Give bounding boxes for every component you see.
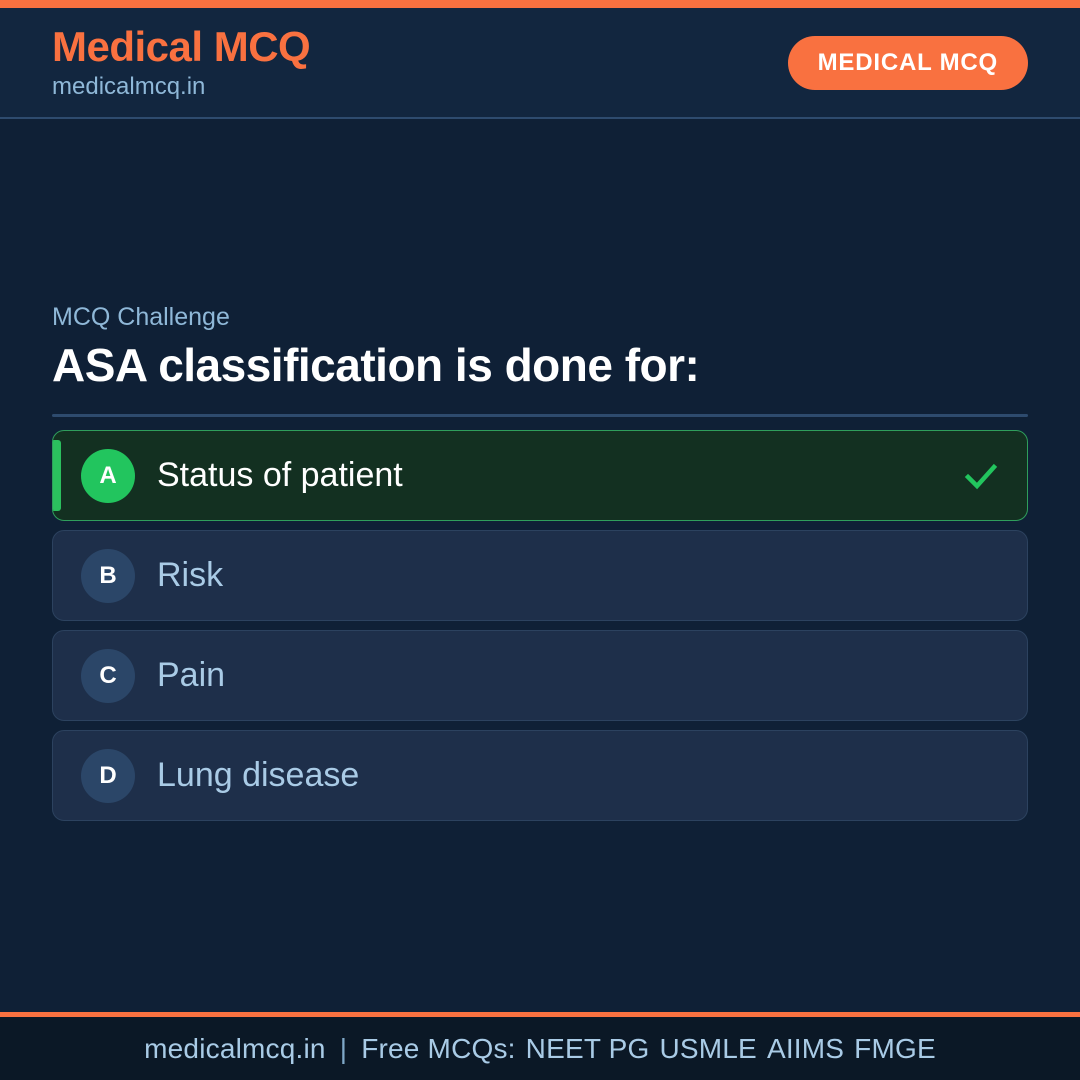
question-divider — [52, 414, 1028, 417]
option-label: Risk — [157, 555, 961, 596]
brand-subtitle: medicalmcq.in — [52, 71, 310, 102]
content-inner: MCQ Challenge ASA classification is done… — [52, 302, 1028, 821]
correct-accent-bar — [53, 440, 61, 511]
option-label: Lung disease — [157, 755, 961, 796]
option-b[interactable]: B Risk — [52, 530, 1028, 621]
header: Medical MCQ medicalmcq.in MEDICAL MCQ — [0, 8, 1080, 119]
option-letter-badge: C — [81, 649, 135, 703]
brand-title: Medical MCQ — [52, 25, 310, 69]
option-letter-badge: A — [81, 449, 135, 503]
footer-separator: | — [326, 1033, 361, 1064]
footer-exam-neetpg: NEET PG — [516, 1033, 650, 1064]
footer: medicalmcq.in|Free MCQs:NEET PGUSMLEAIIM… — [0, 1012, 1080, 1080]
top-accent-bar — [0, 0, 1080, 8]
question-text: ASA classification is done for: — [52, 338, 1028, 392]
header-badge[interactable]: MEDICAL MCQ — [788, 36, 1028, 90]
option-label: Pain — [157, 655, 961, 696]
footer-exam-aiims: AIIMS — [757, 1033, 844, 1064]
footer-site[interactable]: medicalmcq.in — [144, 1033, 326, 1064]
options-list: A Status of patient B Risk C Pain — [52, 430, 1028, 821]
option-label: Status of patient — [157, 455, 961, 496]
option-d[interactable]: D Lung disease — [52, 730, 1028, 821]
footer-prefix: Free MCQs: — [361, 1033, 515, 1064]
option-a[interactable]: A Status of patient — [52, 430, 1028, 521]
main-content: MCQ Challenge ASA classification is done… — [0, 119, 1080, 1012]
footer-text: medicalmcq.in|Free MCQs:NEET PGUSMLEAIIM… — [144, 1033, 936, 1065]
eyebrow-label: MCQ Challenge — [52, 302, 1028, 332]
brand-block: Medical MCQ medicalmcq.in — [52, 25, 310, 102]
mcq-card: Medical MCQ medicalmcq.in MEDICAL MCQ MC… — [0, 0, 1080, 1080]
footer-exam-fmge: FMGE — [844, 1033, 936, 1064]
option-c[interactable]: C Pain — [52, 630, 1028, 721]
option-letter-badge: D — [81, 749, 135, 803]
option-letter-badge: B — [81, 549, 135, 603]
footer-exam-usmle: USMLE — [649, 1033, 756, 1064]
check-icon — [961, 456, 1001, 496]
